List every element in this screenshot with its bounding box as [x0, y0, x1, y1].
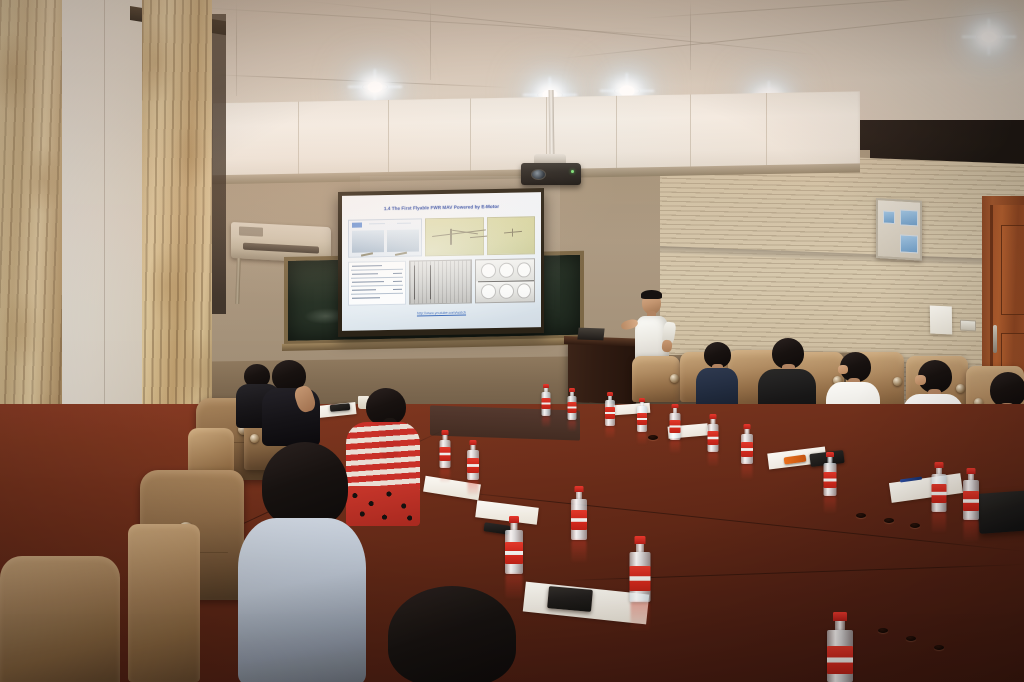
- wall-outlet: [960, 320, 976, 332]
- projector-mount-pole: [549, 90, 555, 158]
- water-bottle[interactable]: [668, 404, 681, 440]
- attendee-10: [388, 586, 528, 682]
- water-bottle[interactable]: [628, 536, 651, 602]
- ceiling-projector: [521, 163, 581, 185]
- notebook[interactable]: [547, 586, 593, 612]
- water-bottle[interactable]: [566, 388, 577, 420]
- conference-room-photo: 1.4 The First Flyable FWR MAV Powered by…: [0, 0, 1024, 682]
- table-grommet: [884, 518, 894, 523]
- table-grommet: [878, 628, 888, 633]
- slide-photo-uav-flight: [487, 216, 535, 255]
- water-bottle[interactable]: [570, 486, 588, 540]
- water-bottle[interactable]: [826, 612, 854, 682]
- projector-status-led: [571, 170, 574, 173]
- wall-paper-note: [930, 305, 952, 334]
- slide-figure-row-bottom: [348, 258, 535, 306]
- door-handle[interactable]: [993, 325, 997, 353]
- slide-title: 1.4 The First Flyable FWR MAV Powered by…: [347, 203, 536, 212]
- water-bottle[interactable]: [822, 452, 837, 496]
- wall-notice-frame: [876, 198, 922, 261]
- water-bottle[interactable]: [466, 440, 480, 480]
- attendee-head: [262, 442, 348, 528]
- attendee-9: [238, 442, 370, 682]
- water-bottle[interactable]: [540, 384, 551, 416]
- podium-laptop: [577, 328, 604, 341]
- slide-photo-uav-side: [425, 217, 484, 256]
- slide-data-table: [348, 261, 406, 306]
- attendee-7: [262, 360, 326, 444]
- table-grommet: [934, 645, 944, 650]
- projector-lens: [531, 169, 546, 180]
- water-bottle[interactable]: [636, 398, 648, 432]
- attendee-head: [388, 586, 516, 682]
- attendee-torso: [238, 518, 366, 682]
- table-grommet: [906, 636, 916, 641]
- slide-hyperlink[interactable]: http://www.youtube.com/watch: [342, 309, 541, 317]
- slide-vortex-images: [475, 258, 535, 303]
- table-grommet: [910, 523, 920, 528]
- slide-flow-visualization: [409, 259, 472, 304]
- slide-figure-row-top: [348, 216, 535, 258]
- water-bottle[interactable]: [504, 516, 524, 574]
- briefcase[interactable]: [977, 490, 1024, 534]
- water-bottle[interactable]: [962, 468, 980, 520]
- conference-chair[interactable]: [632, 356, 680, 402]
- table-grommet: [648, 435, 658, 440]
- slide-diagram-panel: [348, 218, 422, 257]
- water-bottle[interactable]: [930, 462, 947, 512]
- projection-screen: 1.4 The First Flyable FWR MAV Powered by…: [338, 188, 544, 337]
- ceiling-downlight: [960, 16, 1018, 58]
- water-bottle[interactable]: [604, 392, 616, 426]
- chair-armrest[interactable]: [128, 524, 200, 682]
- water-bottle[interactable]: [438, 430, 451, 468]
- water-bottle[interactable]: [706, 414, 719, 452]
- table-grommet: [856, 513, 866, 518]
- table-inset-panel: [430, 405, 580, 440]
- chair-armrest[interactable]: [0, 556, 120, 682]
- water-bottle[interactable]: [740, 424, 754, 464]
